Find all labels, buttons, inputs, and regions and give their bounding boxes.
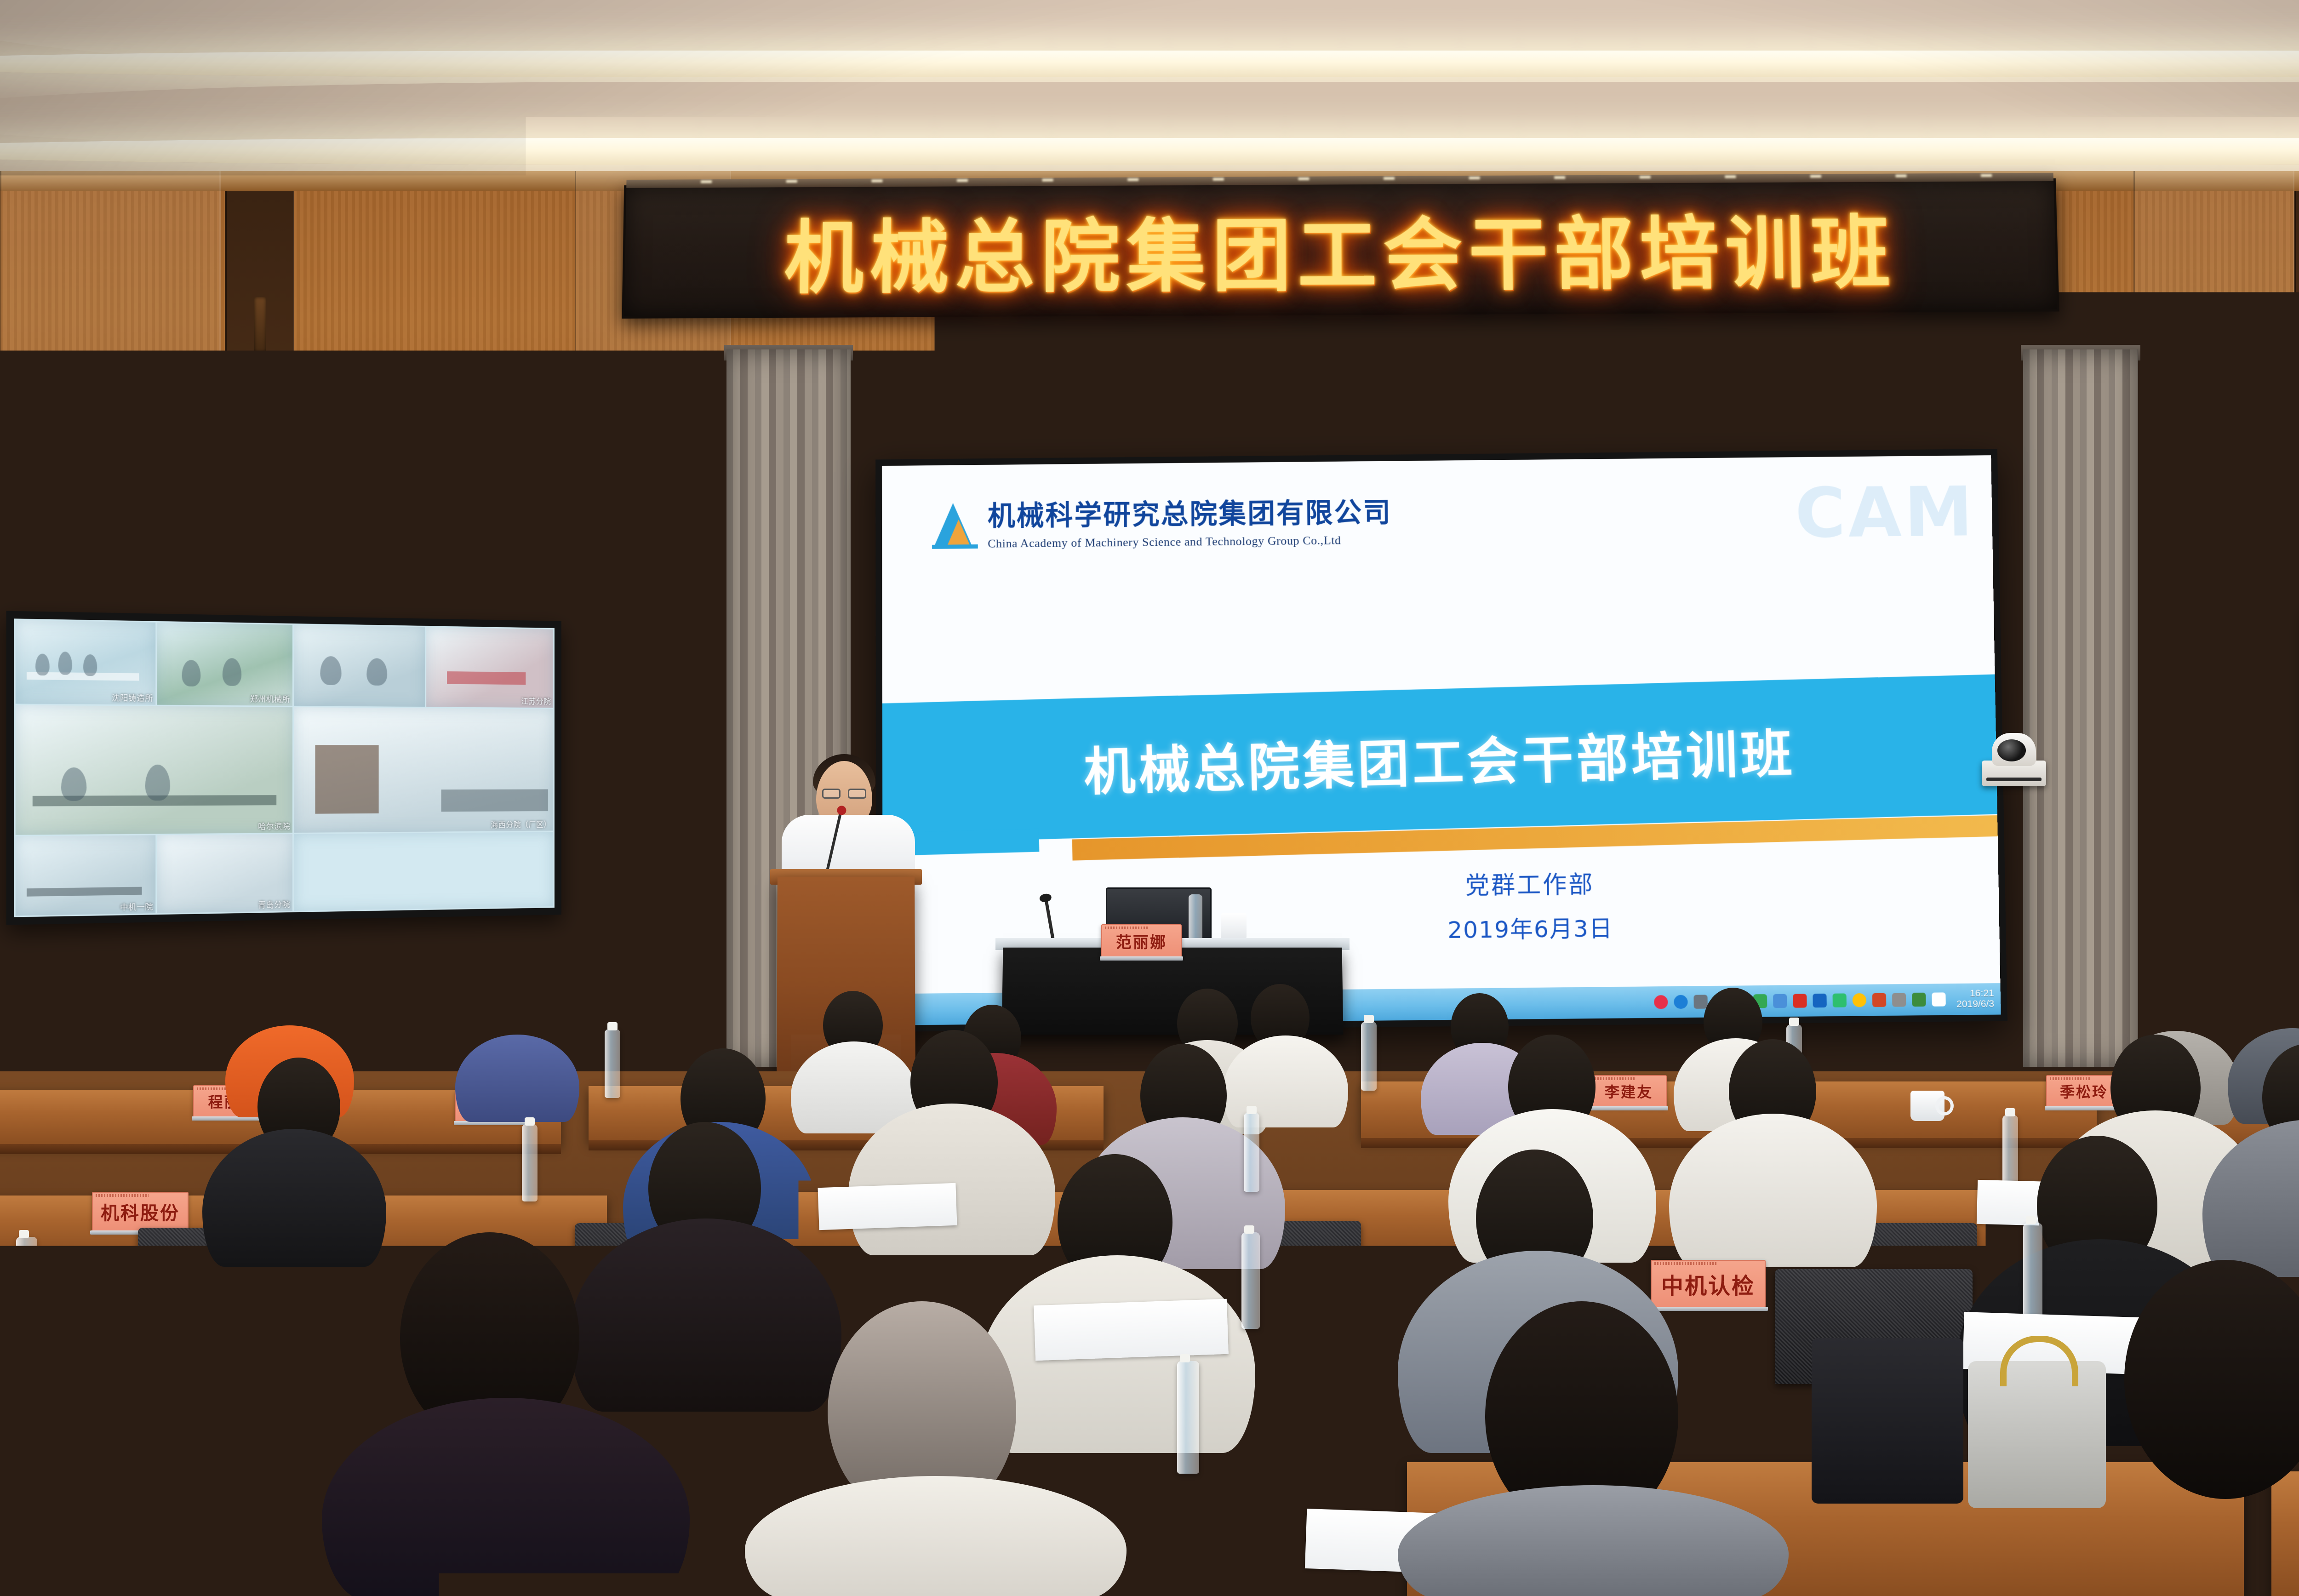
cam-watermark: CAM	[1795, 472, 1976, 554]
clock-time: 16:21	[1970, 988, 1994, 999]
company-logo: 机械科学研究总院集团有限公司 China Academy of Machiner…	[931, 497, 1392, 551]
video-feed: 青岛分院	[157, 834, 292, 913]
wall-column-right	[2294, 191, 2299, 541]
water-bottle	[605, 1029, 620, 1098]
feed-label: 郑州机械所	[250, 692, 290, 704]
backpack	[1812, 1338, 1963, 1504]
clock-date: 2019/6/3	[1956, 998, 1994, 1009]
feed-label: 中机一院	[120, 900, 153, 913]
cove-light-strip-lower	[0, 138, 2299, 165]
slide-footer: 党群工作部 2019年6月3日	[1307, 865, 1754, 950]
water-bottle	[2023, 1223, 2042, 1322]
banner-title: 机械总院集团工会干部培训班	[624, 181, 2057, 316]
slide-department: 党群工作部	[1307, 865, 1754, 906]
stage-curtain-right	[2023, 349, 2138, 1067]
tea-cup	[1221, 913, 1247, 941]
ptz-conference-camera	[1982, 731, 2046, 786]
eyeglasses-icon	[822, 789, 866, 799]
water-bottle	[1345, 1370, 1368, 1485]
bluetooth-icon[interactable]	[1813, 994, 1827, 1008]
name-placard: 机科股份	[92, 1192, 189, 1231]
update-icon[interactable]	[1853, 993, 1867, 1007]
conference-hall-photo: 机械总院集团工会干部培训班 CAM 机械科学研究总院集团有限公司 China A…	[0, 0, 2299, 1596]
sogou-input-icon[interactable]	[1654, 995, 1668, 1009]
video-feed: 江苏分院	[426, 627, 553, 708]
video-feed-empty	[294, 832, 553, 911]
name-placard: 中机认检	[1651, 1260, 1766, 1308]
water-bottle	[522, 1124, 538, 1201]
led-banner: 机械总院集团工会干部培训班	[622, 178, 2059, 319]
ime-switch-icon[interactable]	[1694, 995, 1708, 1009]
handout-paper	[1034, 1299, 1229, 1361]
volume-icon[interactable]	[1932, 992, 1946, 1007]
feed-label: 哈尔滨院	[258, 820, 290, 832]
video-feed: 中机一院	[16, 835, 156, 915]
video-feed: 郑州机械所	[157, 623, 292, 706]
slide-title-band: 机械总院集团工会干部培训班	[882, 674, 2001, 844]
slide-date: 2019年6月3日	[1307, 910, 1754, 950]
tea-cup	[1910, 1091, 1944, 1121]
feed-label: 青岛分院	[258, 898, 290, 910]
network-signal-icon[interactable]	[1912, 993, 1926, 1007]
cove-light-strip-upper	[0, 51, 2299, 77]
help-icon[interactable]	[1674, 995, 1688, 1009]
powerpoint-icon[interactable]	[1872, 993, 1887, 1007]
antivirus-icon[interactable]	[1892, 993, 1906, 1007]
water-bottle	[1177, 1361, 1199, 1474]
video-feed: 沈阳铸造所	[16, 620, 156, 705]
volume-mute-icon[interactable]	[1793, 994, 1807, 1008]
camera-lens-icon	[1997, 739, 2026, 761]
video-conference-grid: 沈阳铸造所 郑州机械所 江苏分院 哈尔滨院 海西分院（厂区）	[14, 618, 555, 917]
ceiling	[0, 0, 2299, 198]
handout-paper	[818, 1183, 957, 1230]
feed-label: 沈阳铸造所	[112, 691, 153, 703]
water-bottle	[1361, 1022, 1377, 1091]
feed-label: 海西分院（厂区）	[491, 818, 551, 829]
name-placard: 李建友	[1591, 1075, 1667, 1107]
slide-title: 机械总院集团工会干部培训班	[882, 674, 2001, 844]
video-feed	[294, 625, 425, 707]
video-feed: 海西分院（厂区）	[294, 707, 553, 833]
video-feed: 哈尔滨院	[16, 705, 292, 835]
video-wall-left: 沈阳铸造所 郑州机械所 江苏分院 哈尔滨院 海西分院（厂区）	[6, 611, 561, 925]
display-icon[interactable]	[1773, 994, 1787, 1008]
feed-label: 江苏分院	[521, 695, 551, 707]
checkmark-icon[interactable]	[1833, 993, 1847, 1007]
water-bottle	[16, 1237, 37, 1343]
name-placard: 范丽娜	[1101, 924, 1182, 957]
logo-text-cn: 机械科学研究总院集团有限公司	[988, 497, 1392, 532]
water-bottle	[1189, 894, 1202, 942]
water-bottle	[1241, 1232, 1260, 1329]
taskbar-clock[interactable]: 16:21 2019/6/3	[1956, 989, 1995, 1010]
cam-triangle-logo-icon	[931, 501, 978, 549]
water-bottle	[1244, 1113, 1259, 1192]
